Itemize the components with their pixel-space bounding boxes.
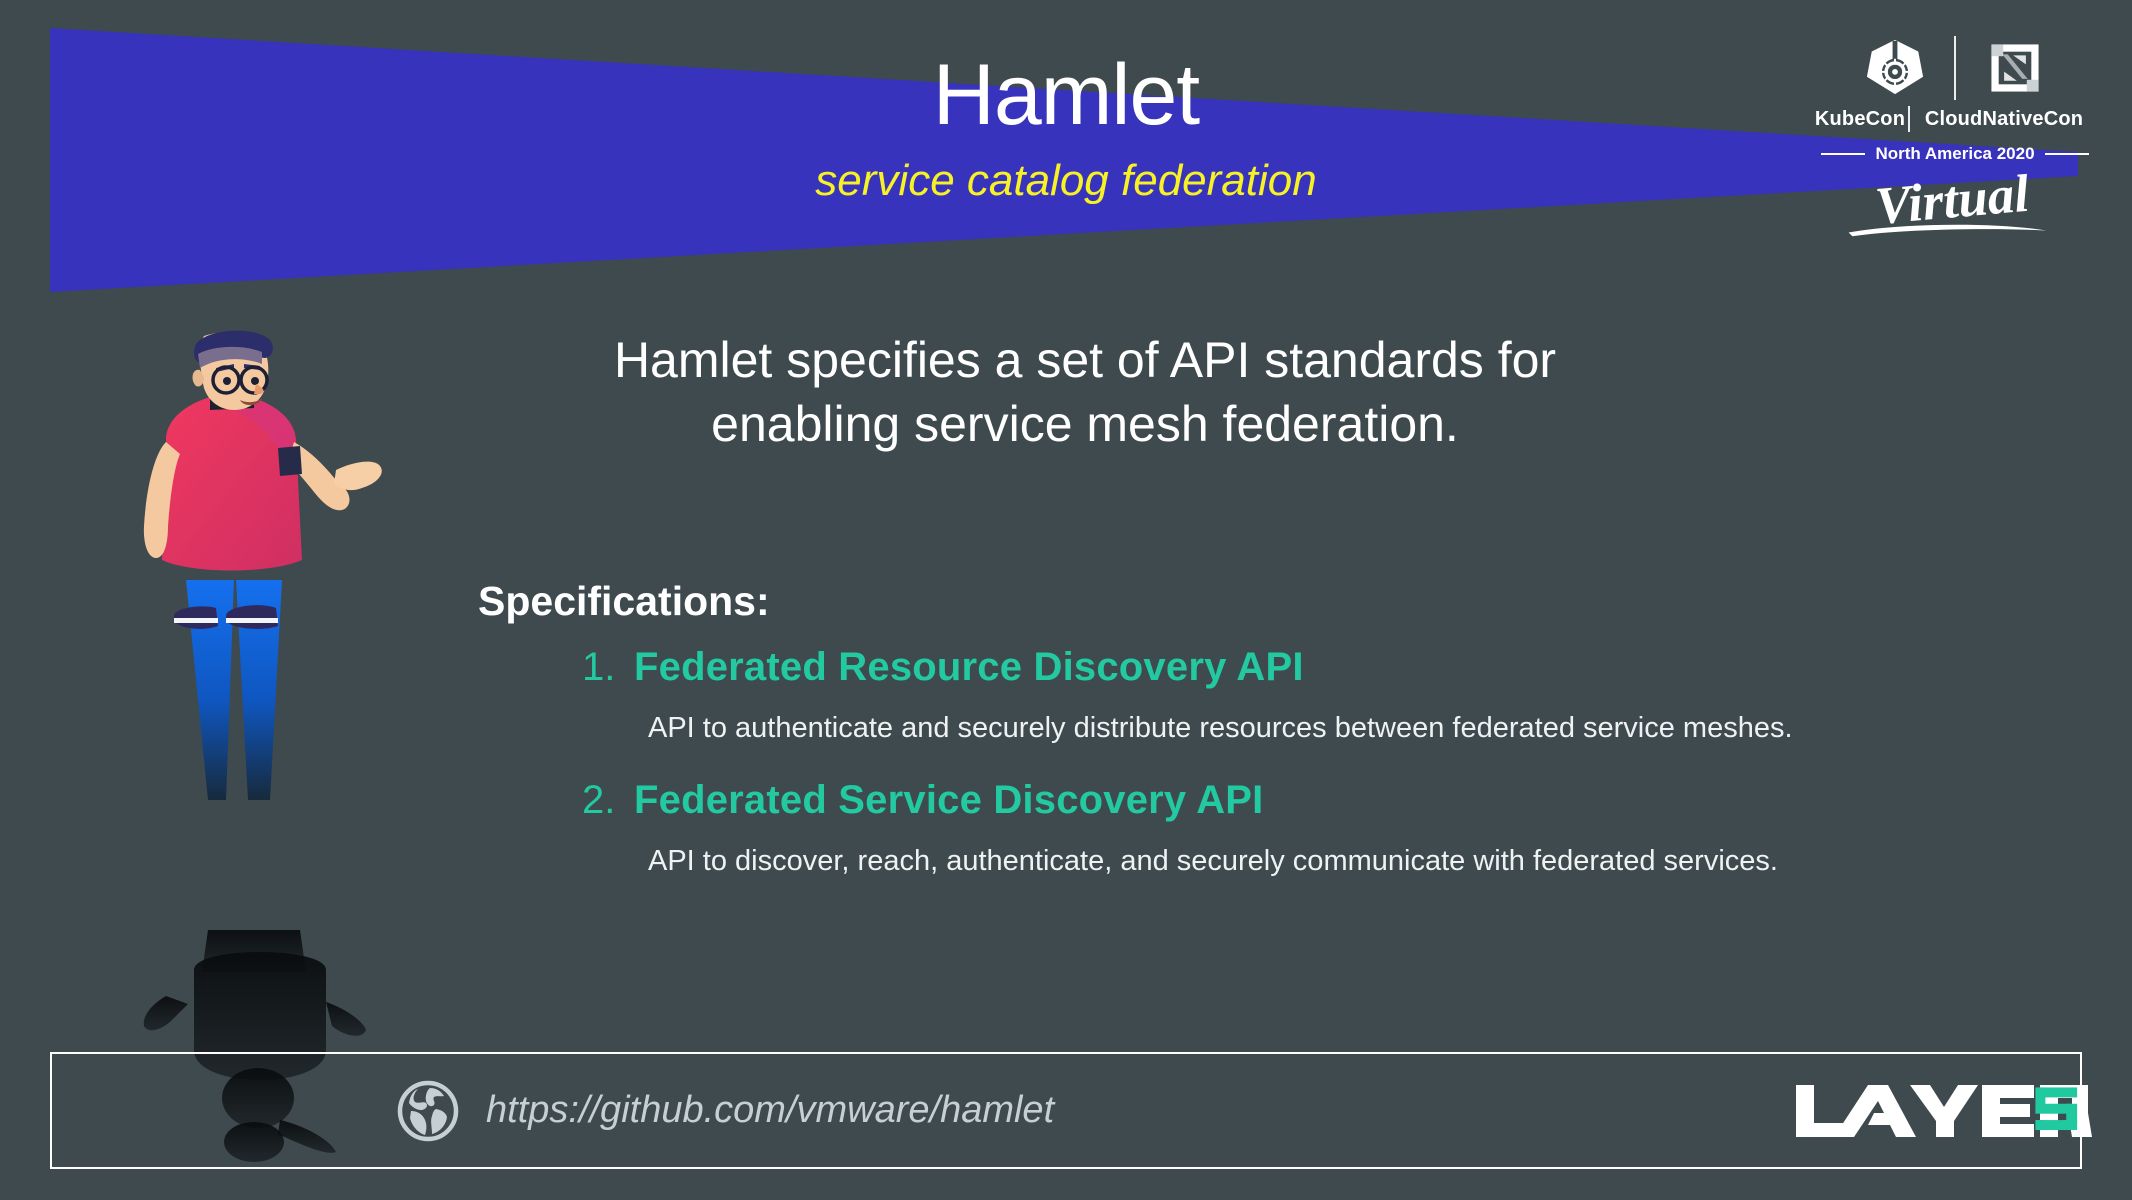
layer5-logo xyxy=(1792,1080,2092,1142)
slide-canvas: Hamlet service catalog federation xyxy=(0,0,2132,1200)
logo-divider xyxy=(1954,36,1956,100)
conference-region-row: North America 2020 xyxy=(1800,144,2110,164)
specifications-heading: Specifications: xyxy=(478,578,770,625)
conference-region-label: North America 2020 xyxy=(1875,144,2034,164)
kubernetes-helm-icon xyxy=(1860,35,1930,101)
list-item: 1. Federated Resource Discovery API API … xyxy=(478,645,2058,748)
kubecon-label: KubeCon xyxy=(1812,108,1908,131)
intro-text: Hamlet specifies a set of API standards … xyxy=(430,328,1740,456)
spec-title-row-1: 1. Federated Resource Discovery API xyxy=(478,645,2058,690)
conference-logo-row xyxy=(1800,34,2110,102)
spec-name-1: Federated Resource Discovery API xyxy=(634,645,1304,690)
region-rule-right xyxy=(2045,153,2089,155)
cncf-square-icon xyxy=(1980,35,2050,101)
spec-number-1: 1. xyxy=(582,645,620,690)
spec-description-1: API to authenticate and securely distrib… xyxy=(478,710,2058,748)
list-item: 2. Federated Service Discovery API API t… xyxy=(478,778,2058,881)
conference-virtual-wordmark: Virtual xyxy=(1800,166,2110,242)
spec-name-2: Federated Service Discovery API xyxy=(634,778,1263,823)
layer5-digit-five xyxy=(2030,1082,2088,1145)
spec-number-2: 2. xyxy=(582,778,620,823)
region-rule-left xyxy=(1821,153,1865,155)
person-presenting-illustration xyxy=(130,330,390,950)
cloudnativecon-label: CloudNativeCon xyxy=(1910,108,2098,131)
conference-names-row: KubeCon CloudNativeCon xyxy=(1800,106,2110,132)
name-divider xyxy=(1908,106,1910,132)
intro-line-2: enabling service mesh federation. xyxy=(430,392,1740,456)
footer-frame xyxy=(50,1052,2082,1169)
intro-line-1: Hamlet specifies a set of API standards … xyxy=(430,328,1740,392)
specifications-list: 1. Federated Resource Discovery API API … xyxy=(478,645,2058,910)
spec-description-2: API to discover, reach, authenticate, an… xyxy=(478,843,2058,881)
kubecon-cloudnativecon-lockup: KubeCon CloudNativeCon North America 202… xyxy=(1800,34,2110,242)
spec-title-row-2: 2. Federated Service Discovery API xyxy=(478,778,2058,823)
